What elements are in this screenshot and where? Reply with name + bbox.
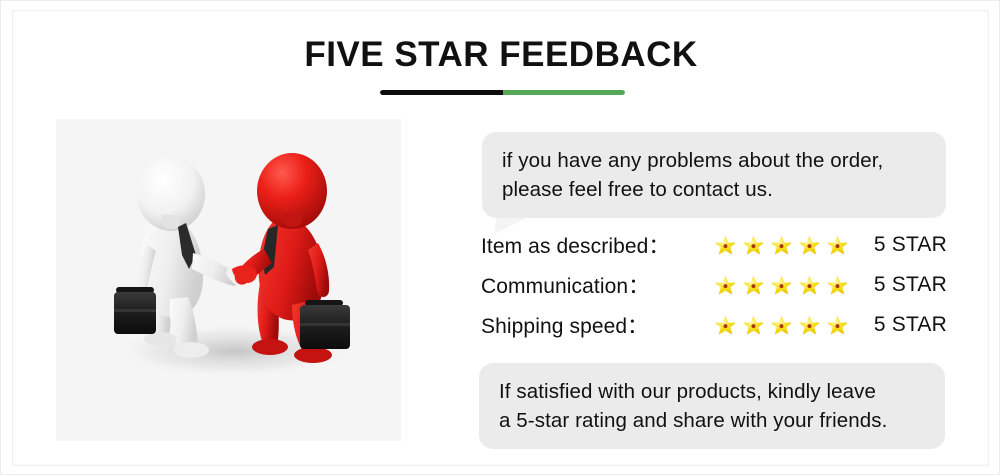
rating-value: 5 STAR <box>865 313 951 337</box>
star-icon <box>713 313 738 338</box>
rating-label: Shipping speed： <box>481 310 713 340</box>
star-icon <box>741 313 766 338</box>
star-icon <box>713 233 738 258</box>
star-icon <box>825 273 850 298</box>
star-icon <box>825 313 850 338</box>
star-icon <box>797 313 822 338</box>
rating-row: Shipping speed： 5 STAR <box>481 305 951 345</box>
star-rating-group <box>713 233 865 258</box>
divider-segment-green <box>503 90 626 95</box>
star-rating-group <box>713 313 865 338</box>
illustration-panel <box>56 119 401 441</box>
feedback-card: FIVE STAR FEEDBACK <box>0 0 1000 475</box>
review-request-bubble: If satisfied with our products, kindly l… <box>479 363 945 449</box>
rating-row: Communication： 5 STAR <box>481 265 951 305</box>
rating-label: Communication： <box>481 270 713 300</box>
handshake-figures-illustration <box>56 119 401 441</box>
star-icon <box>769 313 794 338</box>
contact-message-line-2: please feel free to contact us. <box>502 175 928 204</box>
star-icon <box>741 233 766 258</box>
star-icon <box>741 273 766 298</box>
page-title: FIVE STAR FEEDBACK <box>1 33 1000 77</box>
review-request-line-2: a 5-star rating and share with your frie… <box>499 406 927 435</box>
rating-value: 5 STAR <box>865 233 951 257</box>
star-icon <box>713 273 738 298</box>
rating-label: Item as described： <box>481 230 713 260</box>
star-rating-group <box>713 273 865 298</box>
star-icon <box>797 233 822 258</box>
star-icon <box>769 273 794 298</box>
rating-row: Item as described： 5 STAR <box>481 225 951 265</box>
briefcase-white-figure <box>114 287 156 334</box>
star-icon <box>825 233 850 258</box>
title-divider <box>380 90 625 95</box>
contact-message-line-1: if you have any problems about the order… <box>502 146 928 175</box>
review-request-line-1: If satisfied with our products, kindly l… <box>499 377 927 406</box>
feedback-details-column: if you have any problems about the order… <box>479 119 949 444</box>
star-icon <box>769 233 794 258</box>
ratings-list: Item as described： 5 STAR Communication： <box>481 225 951 345</box>
star-icon <box>797 273 822 298</box>
divider-segment-dark <box>380 90 503 95</box>
briefcase-red-figure <box>300 300 350 349</box>
rating-value: 5 STAR <box>865 273 951 297</box>
contact-message-bubble: if you have any problems about the order… <box>482 132 946 218</box>
